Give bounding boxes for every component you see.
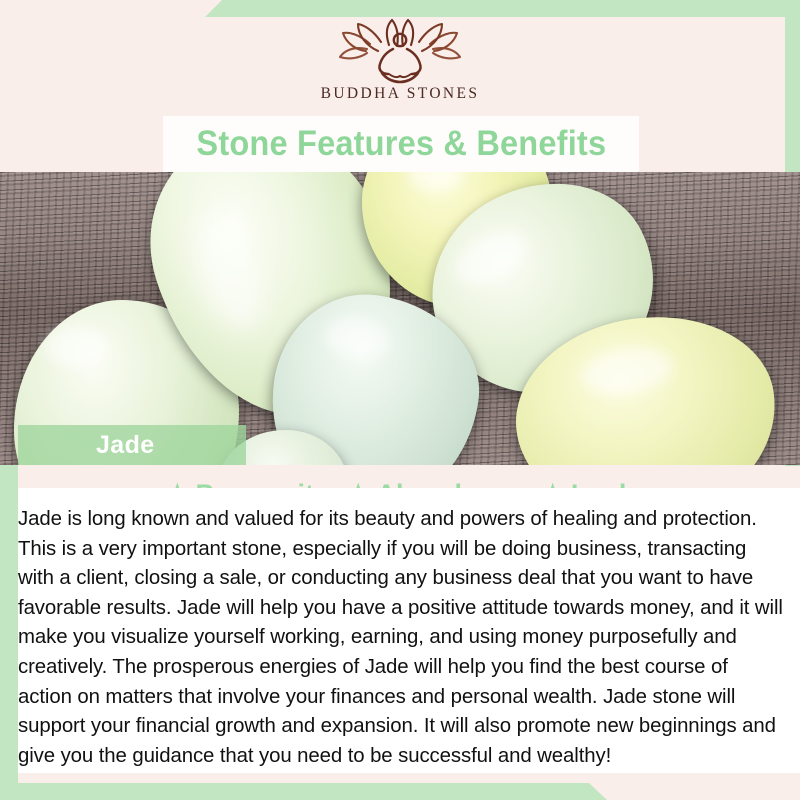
brand-name: BUDDHA STONES (321, 85, 480, 103)
hero-photo (0, 172, 800, 465)
decor-top-green-band (0, 0, 800, 17)
page-title: Stone Features & Benefits (196, 124, 606, 164)
lotus-meditation-icon (337, 18, 463, 84)
stone-benefits-card: BUDDHA STONES Stone Features & Benefits (0, 0, 800, 800)
decor-bottom-green-band (0, 783, 610, 800)
stone-name-text: Jade (96, 431, 155, 460)
stone-name-label: Jade (18, 425, 246, 465)
brand-logo: BUDDHA STONES (0, 18, 800, 114)
title-banner: Stone Features & Benefits (163, 116, 639, 172)
description-text: Jade is long known and valued for its be… (18, 505, 784, 771)
decor-left-green-block (0, 420, 18, 786)
